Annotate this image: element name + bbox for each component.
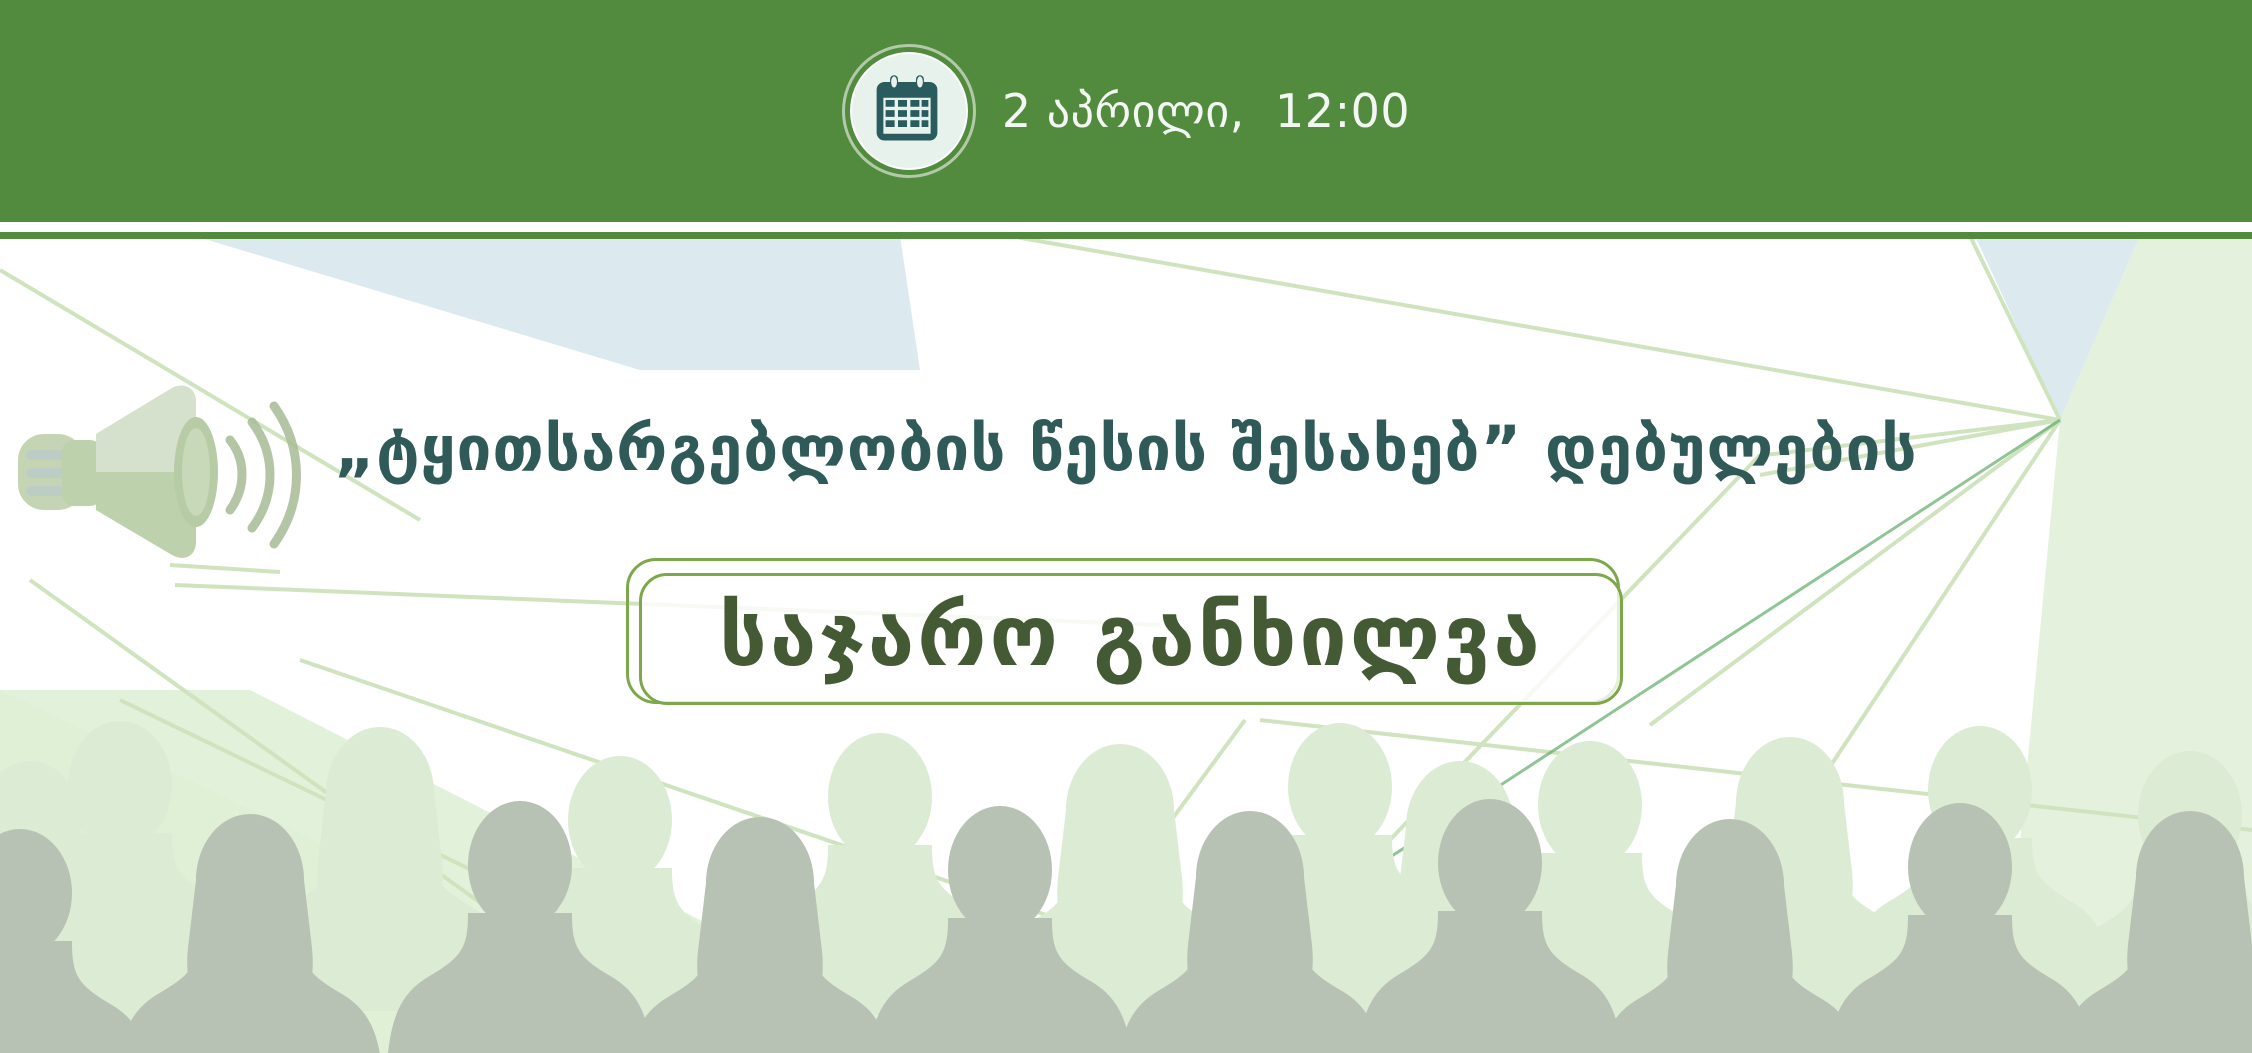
- event-date-time: 2 აპრილი, 12:00: [1002, 88, 1410, 134]
- title-box-inner: საჯარო განხილვა: [639, 573, 1623, 705]
- headline-text: „ტყითსარგებლობის წესის შესახებ” დებულები…: [0, 415, 2252, 483]
- shape-blue-topleft: [195, 236, 920, 370]
- header-divider-rule: [0, 232, 2252, 239]
- title-box-outer: საჯარო განხილვა: [626, 558, 1620, 704]
- line-6: [1970, 236, 2060, 420]
- public-hearing-banner: 2 აპრილი, 12:00 „ტყითსარგებლობის წესის შ…: [0, 0, 2252, 1053]
- calendar-ring-hole-right: [917, 76, 923, 87]
- crowd-silhouettes: [0, 693, 2252, 1053]
- calendar-icon: [871, 73, 943, 145]
- shape-blue-topleft-2: [195, 236, 900, 370]
- line-1: [1010, 236, 2060, 420]
- calendar-grid-cells: [886, 100, 929, 127]
- shape-blue-topright: [1975, 236, 2140, 420]
- header-bar: 2 აპრილი, 12:00: [0, 0, 2252, 222]
- calendar-ring-hole-left: [891, 76, 897, 87]
- page-title: საჯარო განხილვა: [719, 594, 1543, 678]
- date-badge: [842, 44, 976, 178]
- header-content: 2 აპრილი, 12:00: [0, 0, 2252, 222]
